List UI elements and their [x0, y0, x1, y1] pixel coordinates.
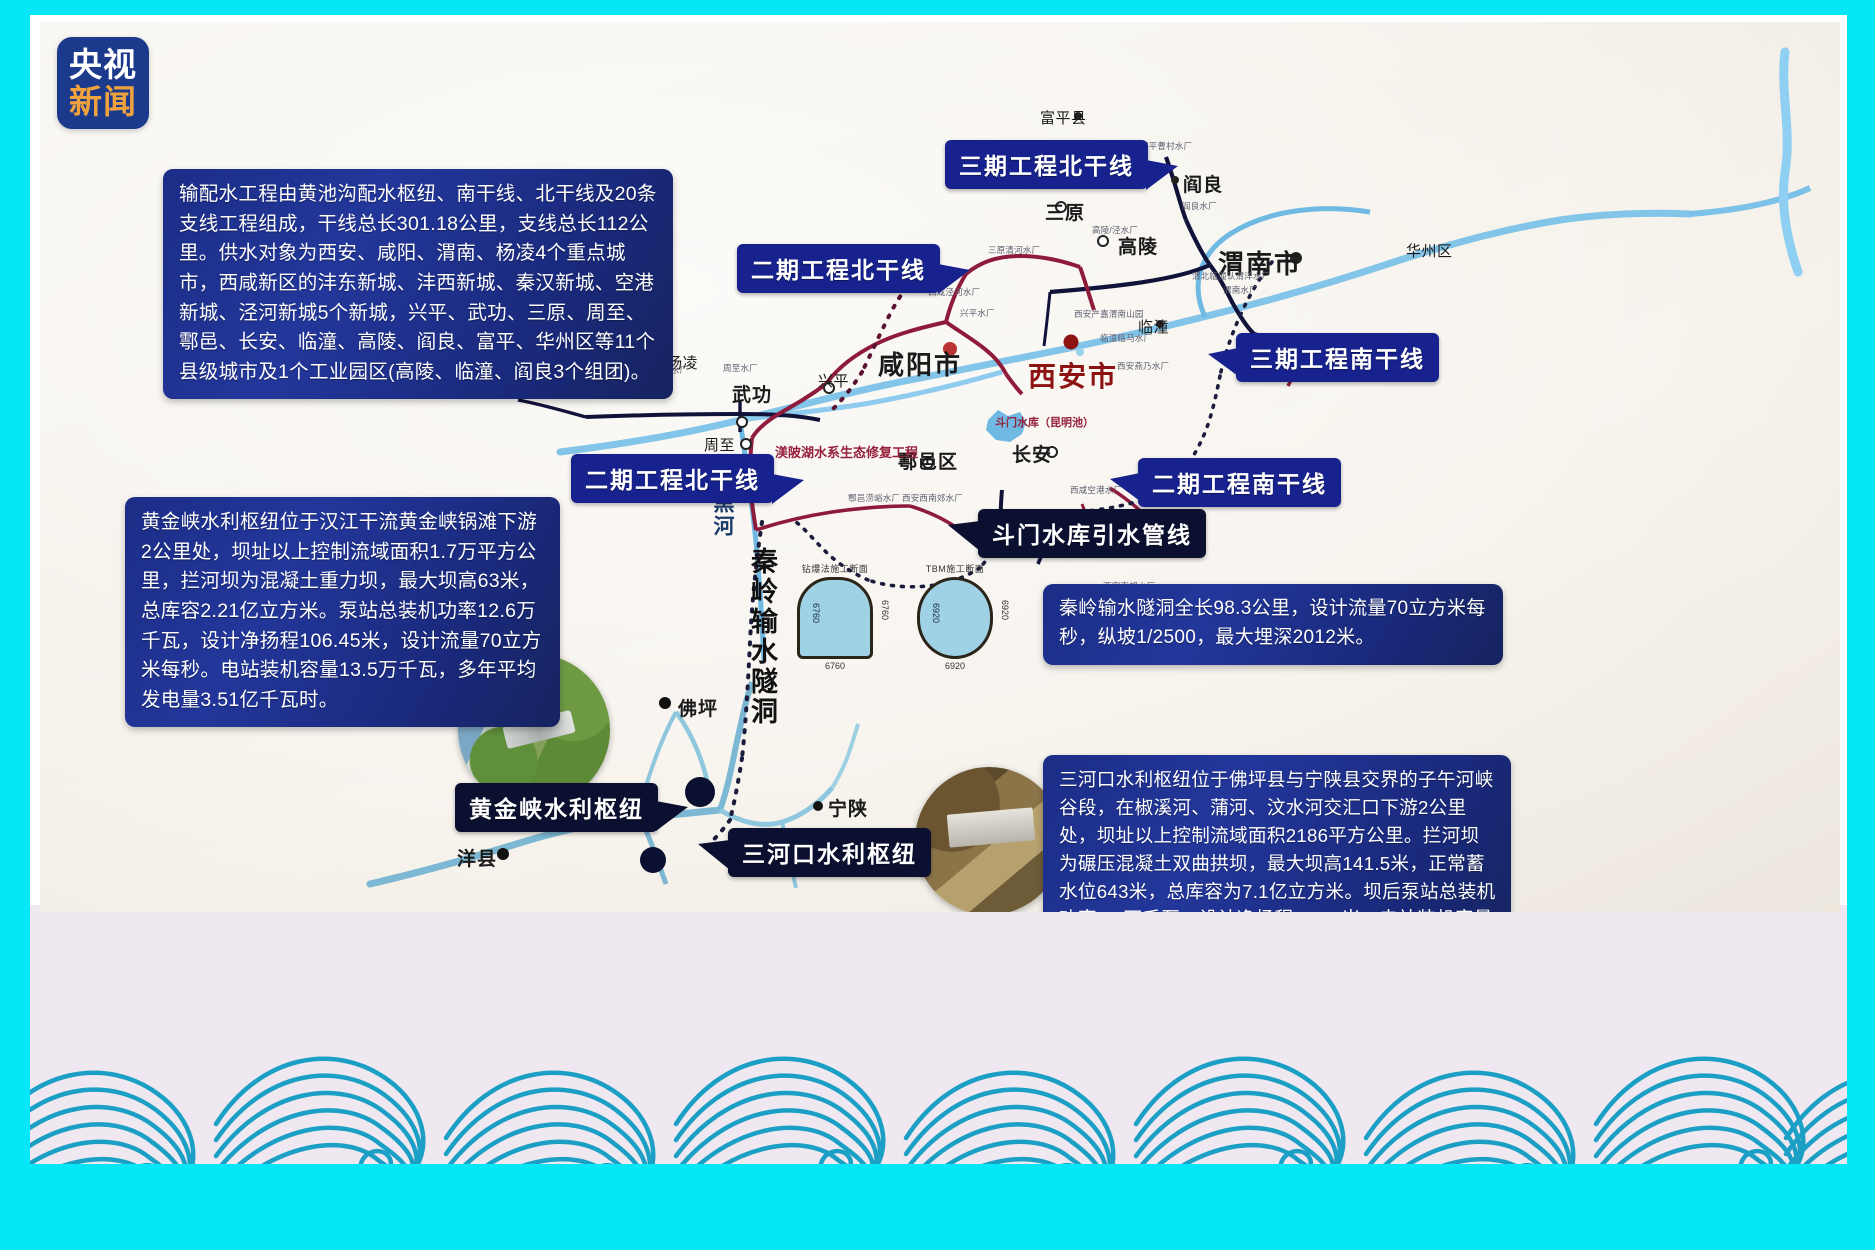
callout-label: 二期工程北干线	[585, 467, 760, 493]
node-sanhekou	[640, 847, 666, 873]
cross-section-width-dim-1: 6920	[917, 661, 993, 671]
plant-label-15: 周至水厂	[723, 362, 758, 374]
map-label-sanyuan: 三原	[1045, 198, 1085, 225]
node-huangjinxia	[685, 777, 715, 807]
cross-section-height-dim-1: 6920	[1000, 600, 1010, 620]
cross-section-shape-0: 6760 6760	[797, 577, 873, 659]
callout-pointer-icon	[772, 474, 804, 504]
left-cyan-strip	[0, 0, 30, 1250]
logo-line-2: 新闻	[69, 85, 137, 118]
map-label-foping: 佛坪	[678, 694, 718, 721]
plant-label-10: 鄠邑涝峪水厂	[848, 492, 900, 504]
callout-doumen-pipeline[interactable]: 斗门水库引水管线	[978, 509, 1206, 558]
callout-phase2-north-trunk-west[interactable]: 二期工程北干线	[571, 454, 774, 503]
callout-pointer-icon	[1110, 473, 1140, 501]
plant-label-1: 阎良水厂	[1182, 200, 1217, 212]
callout-huangjinxia-hub[interactable]: 黄金峡水利枢纽	[455, 783, 658, 832]
callout-phase3-north-trunk[interactable]: 三期工程北干线	[945, 140, 1148, 189]
callout-pointer-icon	[948, 521, 980, 551]
cross-section-inner-dim-1: 6920	[931, 603, 941, 623]
map-label-xianyang: 咸阳市	[878, 345, 962, 382]
map-label-meibei-lake: 渼陂湖水系生态修复工程	[775, 442, 918, 461]
cross-section-inner-dim-0: 6760	[811, 603, 821, 623]
map-label-xian: 西安市	[1028, 355, 1118, 395]
callout-phase2-south-trunk[interactable]: 二期工程南干线	[1138, 458, 1341, 507]
city-dot-xian	[1064, 335, 1079, 350]
info-panel-huangjinxia: 黄金峡水利枢纽位于汉江干流黄金峡锅滩下游2公里处，坝址以上控制流域面积1.7万平…	[125, 497, 560, 727]
plant-label-4: 西安产嘉渭南山园	[1074, 308, 1144, 320]
callout-label: 黄金峡水利枢纽	[469, 796, 644, 822]
map-label-doumen-reservoir: 斗门水库（昆明池）	[995, 414, 1094, 430]
map-label-yangxian: 洋县	[457, 844, 497, 871]
callout-pointer-icon	[1208, 348, 1238, 376]
cross-section-drill-blast: 钻爆法施工断面 6760 6760 6760	[797, 562, 873, 671]
right-cyan-strip	[1847, 0, 1875, 1250]
cross-section-tbm: TBM施工断面 6920 6920 6920	[917, 562, 993, 671]
callout-label: 二期工程南干线	[1152, 471, 1327, 497]
map-label-ningshan: 宁陕	[828, 794, 868, 821]
info-panel-qinling-tunnel: 秦岭输水隧洞全长98.3公里，设计流量70立方米每秒，纵坡1/2500，最大埋深…	[1043, 584, 1503, 665]
callout-pointer-icon	[656, 801, 688, 831]
map-label-gaoling: 高陵	[1118, 232, 1158, 259]
map-label-zhouzhi: 周至	[704, 434, 735, 455]
map-label-qinling-tunnel: 秦岭输水隧洞	[743, 547, 782, 727]
callout-label: 三期工程南干线	[1250, 346, 1425, 372]
cross-section-shape-1: 6920 6920	[917, 577, 993, 659]
cross-section-width-dim-0: 6760	[797, 661, 873, 671]
map-label-huazhou: 华州区	[1406, 240, 1453, 261]
map-label-fuping: 富平县	[1040, 107, 1087, 128]
map-label-changan: 长安	[1012, 440, 1052, 467]
plant-label-3: 高陵/泾水厂	[1092, 224, 1138, 236]
poster-photograph: 西安市 咸阳市 渭南市 富平县 阎良 三原 高陵 临潼 华州区 兴平 武功 杨凌…	[40, 22, 1840, 912]
top-cyan-strip	[0, 0, 1875, 15]
cctv-news-logo[interactable]: 央视 新闻	[57, 37, 149, 129]
callout-label: 三河口水利枢纽	[742, 841, 917, 867]
callout-label: 三期工程北干线	[959, 153, 1134, 179]
plant-label-16: 渭南水厂	[1223, 284, 1258, 296]
callout-phase2-north-trunk[interactable]: 二期工程北干线	[737, 244, 940, 293]
cross-section-caption-0: 钻爆法施工断面	[797, 562, 873, 575]
info-panel-sanhekou: 三河口水利枢纽位于佛坪县与宁陕县交界的子午河峡谷段，在椒溪河、蒲河、汶水河交汇口…	[1043, 755, 1511, 912]
callout-label: 斗门水库引水管线	[992, 522, 1192, 548]
callout-pointer-icon	[698, 840, 730, 870]
plant-label-11: 西安西南郊水厂	[902, 492, 963, 504]
plant-label-2: 三原清河水厂	[988, 244, 1040, 256]
bottom-cyan-strip	[0, 1164, 1875, 1250]
map-label-wugong: 武功	[732, 380, 772, 407]
info-panel-water-supply: 输配水工程由黄池沟配水枢纽、南干线、北干线及20条支线工程组成，干线总长301.…	[163, 169, 673, 399]
logo-line-1: 央视	[69, 48, 137, 81]
photo-sanhekou-dam	[915, 767, 1063, 912]
callout-sanhekou-hub[interactable]: 三河口水利枢纽	[728, 828, 931, 877]
cross-section-height-dim-0: 6760	[880, 600, 890, 620]
map-label-yanliang: 阎良	[1183, 170, 1223, 197]
plant-label-5: 渭北临潼认渭洋水厂	[1192, 270, 1270, 282]
cross-section-caption-1: TBM施工断面	[917, 562, 993, 575]
plant-label-7: 西安燕乃水厂	[1117, 360, 1169, 372]
callout-label: 二期工程北干线	[751, 257, 926, 283]
callout-pointer-icon	[938, 264, 970, 294]
callout-pointer-icon	[1146, 160, 1178, 190]
outer-cyan-frame: 西安市 咸阳市 渭南市 富平县 阎良 三原 高陵 临潼 华州区 兴平 武功 杨凌…	[0, 0, 1875, 1250]
map-label-xingping: 兴平	[818, 370, 849, 391]
plant-label-6: 临潼临马水厂	[1100, 332, 1152, 344]
callout-phase3-south-trunk[interactable]: 三期工程南干线	[1236, 333, 1439, 382]
plant-label-14: 兴平水厂	[960, 307, 995, 319]
